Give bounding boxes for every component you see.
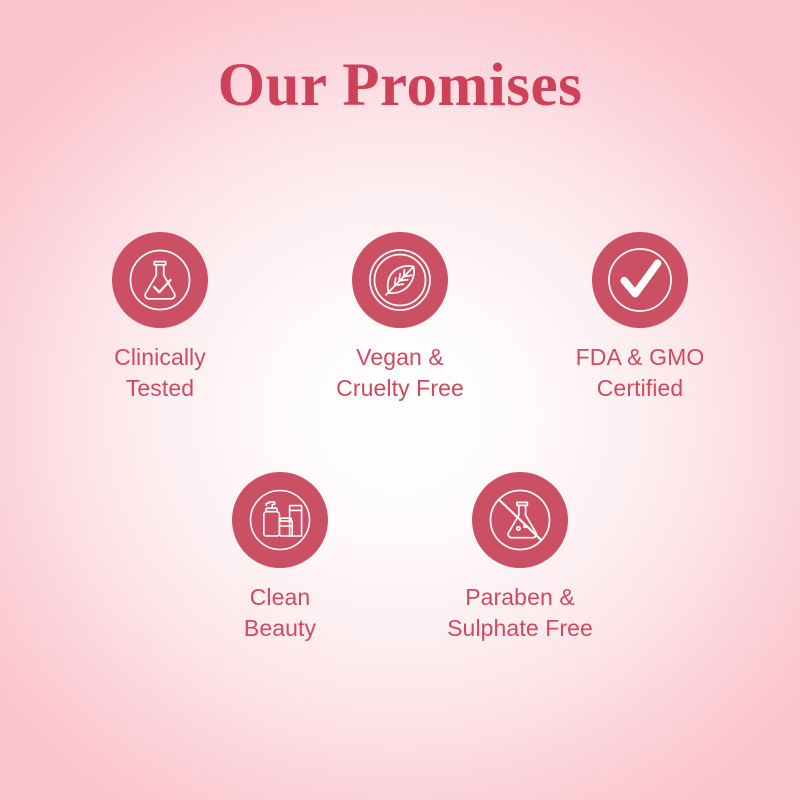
promise-badge-vegan-cruelty-free [352,232,448,328]
promise-label-vegan-cruelty-free: Vegan & Cruelty Free [336,342,464,404]
promise-item-fda-gmo-certified[interactable]: FDA & GMO Certified [520,232,760,404]
promise-item-clinically-tested[interactable]: Clinically Tested [40,232,280,404]
promise-row-bottom: Clean Beauty [0,472,800,644]
promise-badge-paraben-sulphate-free [472,472,568,568]
promise-item-vegan-cruelty-free[interactable]: Vegan & Cruelty Free [280,232,520,404]
promise-badge-clinically-tested [112,232,208,328]
page-title: Our Promises [0,52,800,119]
our-promises-card: Our Promises Clinically Test [0,0,800,800]
leaf-icon [361,241,439,319]
promise-item-paraben-sulphate-free[interactable]: Paraben & Sulphate Free [400,472,640,644]
no-flask-icon [481,481,559,559]
promise-label-fda-gmo-certified: FDA & GMO Certified [576,342,705,404]
promise-badge-clean-beauty [232,472,328,568]
promise-badge-fda-gmo-certified [592,232,688,328]
heading-container: Our Promises [0,52,800,119]
promise-label-paraben-sulphate-free: Paraben & Sulphate Free [447,582,593,644]
checkmark-icon [600,240,680,320]
cosmetic-bottles-icon [241,481,319,559]
promise-label-clean-beauty: Clean Beauty [244,582,316,644]
promise-item-clean-beauty[interactable]: Clean Beauty [160,472,400,644]
promise-row-top: Clinically Tested [0,232,800,404]
flask-check-icon [121,241,199,319]
promise-label-clinically-tested: Clinically Tested [114,342,206,404]
